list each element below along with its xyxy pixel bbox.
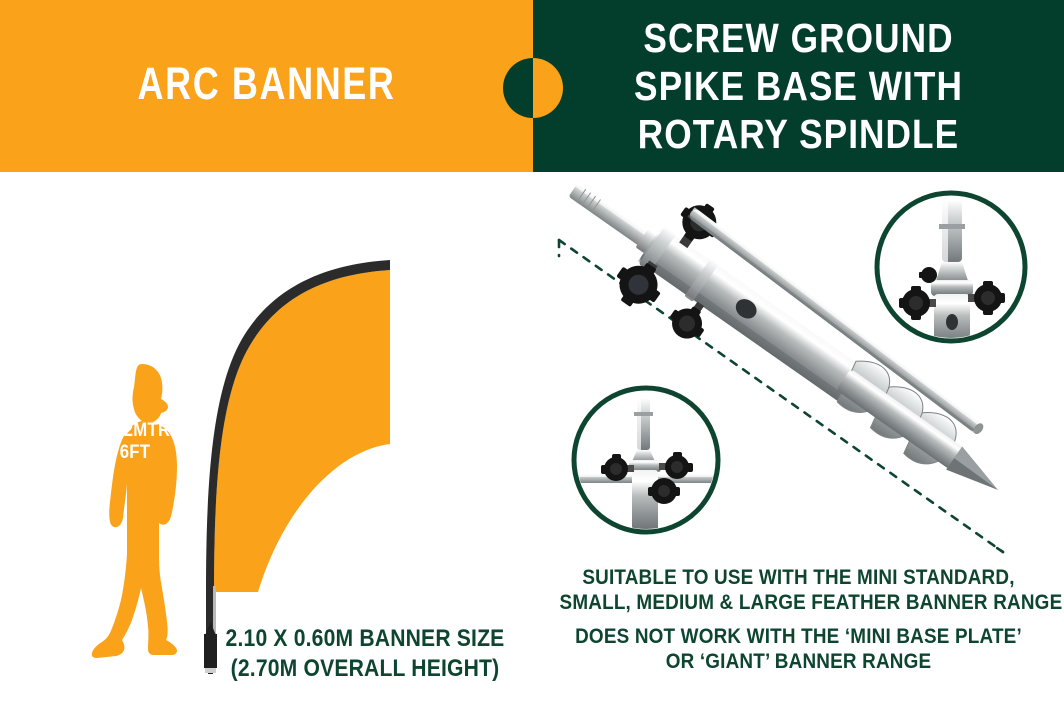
header-right-title: SCREW GROUND SPIKE BASE WITH ROTARY SPIN…	[570, 14, 1027, 158]
banner-size-line-2: (2.70M OVERALL HEIGHT)	[224, 654, 506, 684]
left-content-panel: 1.82MTR 6FT 2.10 X 0.60M BANNER SIZE	[0, 172, 533, 709]
footnote-suitable-line-2: SMALL, MEDIUM & LARGE FEATHER BANNER RAN…	[560, 590, 1038, 615]
compatibility-footnote: SUITABLE TO USE WITH THE MINI STANDARD, …	[560, 565, 1038, 674]
footnote-warning-line-2: OR ‘GIANT’ BANNER RANGE	[560, 649, 1038, 674]
screw-spike-product-photo	[533, 172, 1064, 572]
split-circle-right-half	[533, 58, 563, 118]
infographic-page: ARC BANNER SCREW GROUND SPIKE BASE WITH …	[0, 0, 1064, 709]
inset-circle-top-right	[877, 193, 1025, 346]
person-silhouette-icon	[80, 362, 200, 672]
header-right-title-line-1: SCREW GROUND	[570, 14, 1027, 62]
header-right-title-line-3: ROTARY SPINDLE	[570, 110, 1027, 158]
split-circle-divider-icon	[503, 58, 563, 118]
header-left-title: ARC BANNER	[53, 58, 479, 110]
header-bar: ARC BANNER SCREW GROUND SPIKE BASE WITH …	[0, 0, 1064, 172]
banner-size-line-1: 2.10 X 0.60M BANNER SIZE	[224, 624, 506, 654]
footnote-suitable-line-1: SUITABLE TO USE WITH THE MINI STANDARD,	[560, 565, 1038, 590]
inset-circle-bottom-left	[571, 388, 723, 532]
banner-size-caption: 2.10 X 0.60M BANNER SIZE (2.70M OVERALL …	[224, 624, 506, 684]
footnote-warning-line-1: DOES NOT WORK WITH THE ‘MINI BASE PLATE’	[560, 624, 1038, 649]
footnote-suitable-group: SUITABLE TO USE WITH THE MINI STANDARD, …	[560, 565, 1038, 615]
header-right-title-line-2: SPIKE BASE WITH	[570, 62, 1027, 110]
footnote-warning-group: DOES NOT WORK WITH THE ‘MINI BASE PLATE’…	[560, 624, 1038, 674]
arc-banner-graphic	[190, 182, 390, 682]
split-circle-left-half	[503, 58, 533, 118]
